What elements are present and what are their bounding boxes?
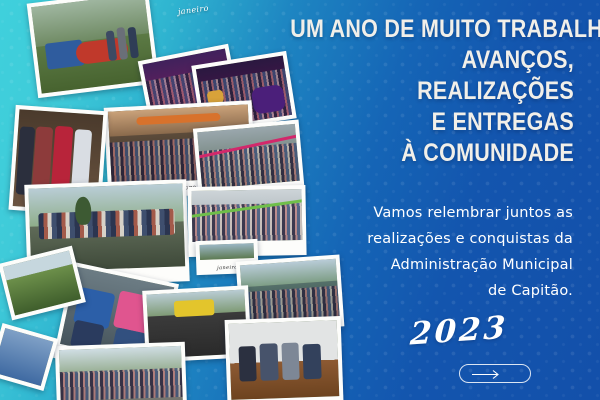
subtitle-line-2: realizações e conquistas da [283,226,573,252]
title-line-1: UM ANO DE MUITO TRABALHO: [290,14,574,45]
title-line-2: AVANÇOS, [290,45,574,76]
collage-photo-image [197,124,300,189]
collage-photo-image [3,251,81,316]
collage-photo[interactable] [225,316,344,400]
collage-photo-image [229,320,340,400]
year-label: 2023 [409,309,509,352]
collage-photo-image [59,346,183,400]
collage-photo-image [0,328,53,386]
title-line-4: E ENTREGAS [290,107,574,138]
title-line-3: REALIZAÇÕES [290,76,574,107]
next-arrow-button[interactable] [459,364,531,383]
collage-photo[interactable] [0,323,58,391]
arrow-right-icon [472,369,502,380]
poster-title: UM ANO DE MUITO TRABALHO: AVANÇOS, REALI… [290,14,574,169]
subtitle-line-4: de Capitão. [283,278,573,304]
subtitle-line-1: Vamos relembrar juntos as [283,200,573,226]
title-line-5: À COMUNIDADE [290,138,574,169]
poster-subtitle: Vamos relembrar juntos as realizações e … [283,200,573,304]
collage-photo-image [200,243,254,260]
poster-canvas: janeiro [0,0,600,400]
subtitle-line-3: Administração Municipal [283,252,573,278]
collage-photo[interactable] [55,342,187,400]
